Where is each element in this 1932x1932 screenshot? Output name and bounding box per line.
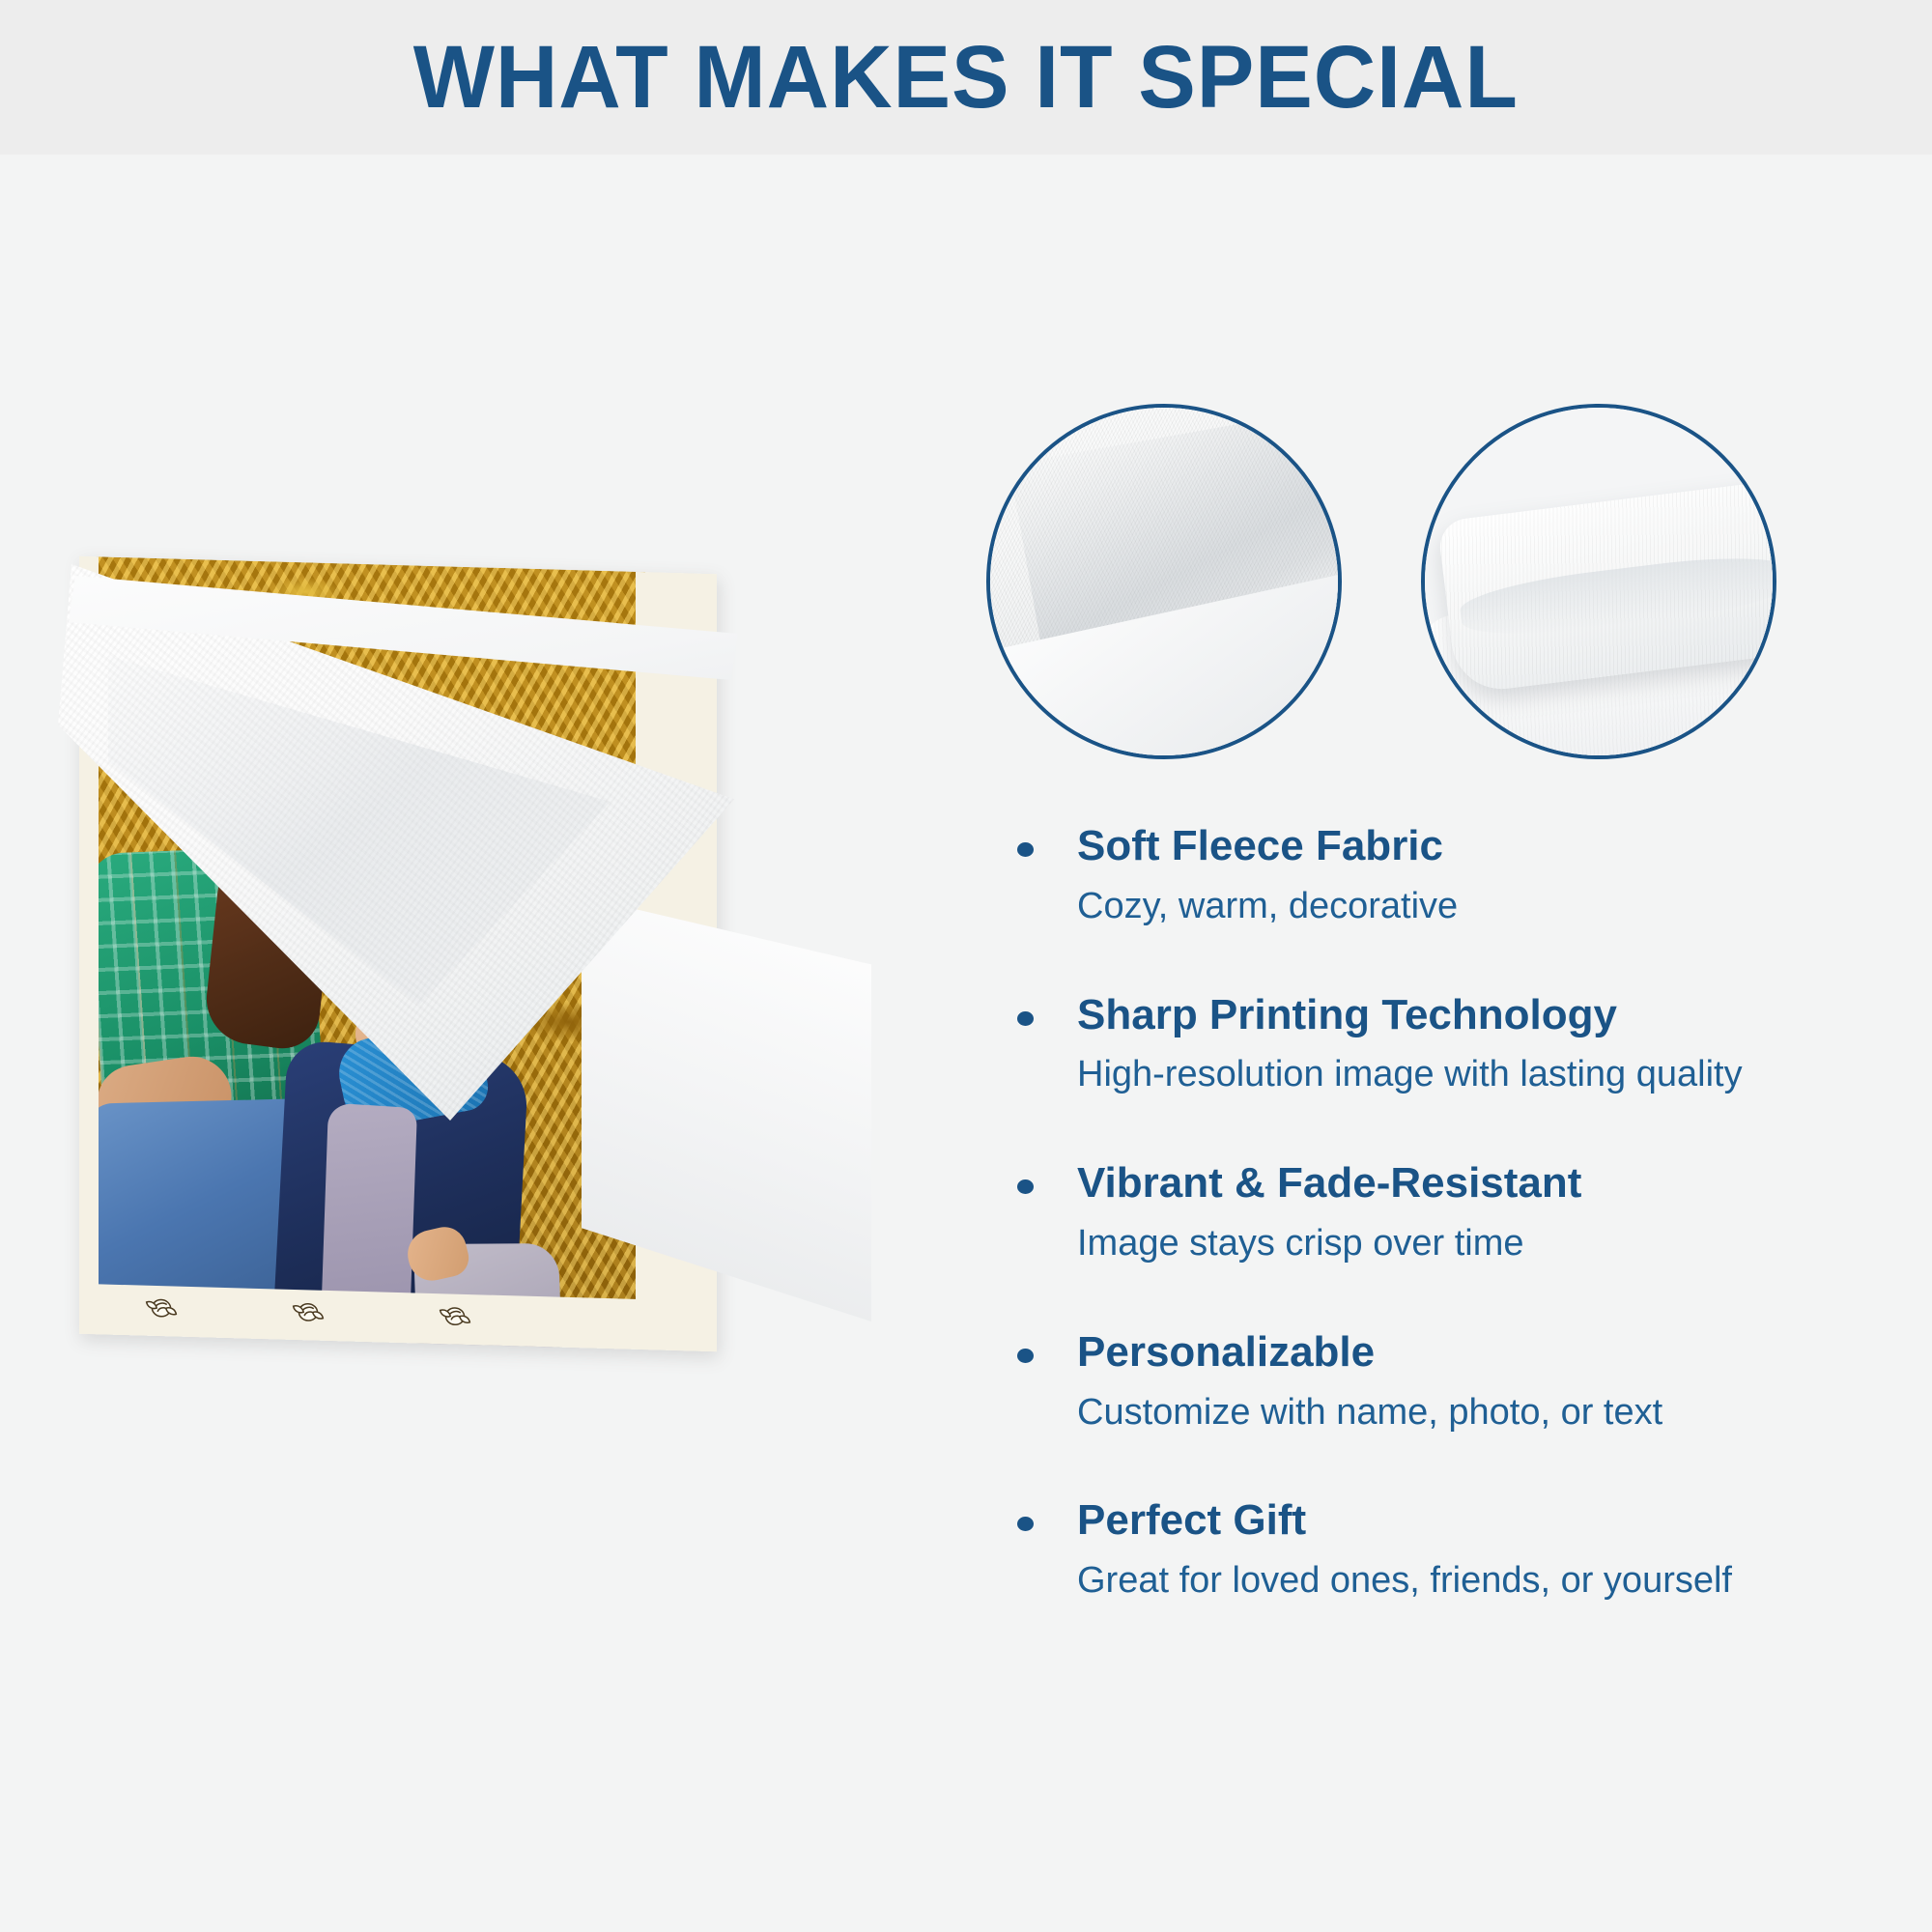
feature-item: Sharp Printing Technology High-resolutio… <box>966 990 1932 1099</box>
bullet-icon <box>1017 1349 1034 1363</box>
product-image-panel <box>0 155 966 1932</box>
bullet-icon <box>1017 1011 1034 1026</box>
feature-title: Perfect Gift <box>1077 1495 1932 1546</box>
feature-item: Perfect Gift Great for loved ones, frien… <box>966 1495 1932 1605</box>
feature-description: High-resolution image with lasting quali… <box>1077 1051 1932 1098</box>
feature-title: Vibrant & Fade-Resistant <box>1077 1158 1932 1208</box>
bullet-icon <box>1017 842 1034 857</box>
blanket-product-photo <box>79 512 833 1362</box>
header-band: WHAT MAKES IT SPECIAL <box>0 0 1932 155</box>
page-title: WHAT MAKES IT SPECIAL <box>413 33 1519 122</box>
feature-item: Vibrant & Fade-Resistant Image stays cri… <box>966 1158 1932 1267</box>
bullet-icon <box>1017 1179 1034 1194</box>
feature-description: Cozy, warm, decorative <box>1077 883 1932 930</box>
detail-circle-fleece-texture <box>986 404 1342 759</box>
feature-title: Sharp Printing Technology <box>1077 990 1932 1040</box>
rose-ornament-icon <box>139 1286 184 1331</box>
feature-description: Image stays crisp over time <box>1077 1220 1932 1267</box>
feature-item: Soft Fleece Fabric Cozy, warm, decorativ… <box>966 821 1932 930</box>
feature-item: Personalizable Customize with name, phot… <box>966 1327 1932 1436</box>
feature-description: Customize with name, photo, or text <box>1077 1389 1932 1436</box>
feature-description: Great for loved ones, friends, or yourse… <box>1077 1557 1932 1605</box>
rose-ornament-icon <box>433 1293 477 1339</box>
feature-list: Soft Fleece Fabric Cozy, warm, decorativ… <box>966 821 1932 1605</box>
rose-ornament-icon <box>286 1290 330 1335</box>
bullet-icon <box>1017 1517 1034 1531</box>
feature-title: Personalizable <box>1077 1327 1932 1378</box>
infographic-page: WHAT MAKES IT SPECIAL <box>0 0 1932 1932</box>
feature-title: Soft Fleece Fabric <box>1077 821 1932 871</box>
detail-circle-folded-edge <box>1421 404 1776 759</box>
